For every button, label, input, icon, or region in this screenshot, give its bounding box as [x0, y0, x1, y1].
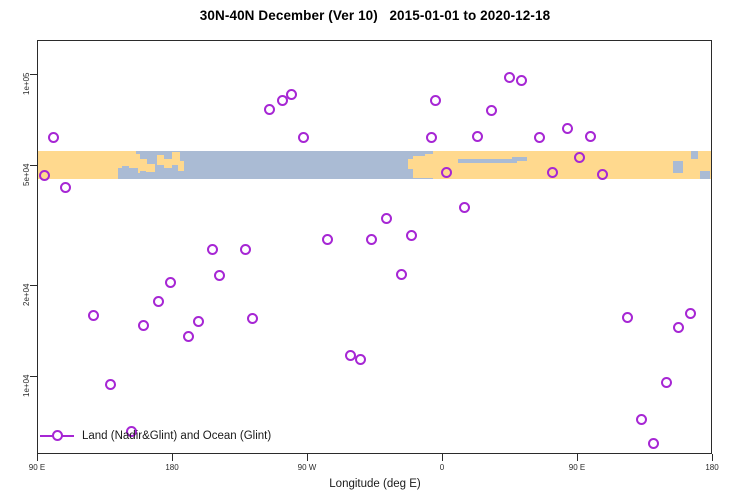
scatter-point — [426, 132, 437, 143]
y-tick-mark — [30, 376, 37, 377]
scatter-point — [366, 234, 377, 245]
legend-label: Land (Nadir&Glint) and Ocean (Glint) — [82, 430, 271, 442]
map-band-eastern-half — [376, 151, 713, 179]
y-tick-label: 1e+05 — [22, 73, 31, 95]
x-tick-label: 90 E — [569, 463, 585, 472]
y-tick-mark — [30, 285, 37, 286]
landmass-shape — [178, 161, 185, 171]
x-tick-label: 90 E — [29, 463, 45, 472]
scatter-point — [534, 132, 545, 143]
x-tick-label: 180 — [705, 463, 718, 472]
scatter-point — [673, 322, 684, 333]
scatter-point — [322, 234, 333, 245]
scatter-point — [648, 438, 659, 449]
scatter-point — [165, 277, 176, 288]
scatter-point — [247, 313, 258, 324]
scatter-point — [48, 132, 59, 143]
chart-legend[interactable]: Land (Nadir&Glint) and Ocean (Glint) — [40, 424, 271, 448]
scatter-point — [138, 320, 149, 331]
chart-title: 30N-40N December (Ver 10) 2015-01-01 to … — [0, 8, 750, 23]
legend-circle-icon — [52, 430, 63, 441]
y-tick-label: 2e+04 — [22, 284, 31, 306]
y-tick-mark — [30, 165, 37, 166]
figure-canvas: 30N-40N December (Ver 10) 2015-01-01 to … — [0, 0, 750, 500]
landmass-shape — [521, 151, 616, 159]
scatter-point — [183, 331, 194, 342]
scatter-point — [214, 270, 225, 281]
plot-area — [37, 40, 712, 454]
scatter-point — [105, 379, 116, 390]
ocean-shape — [133, 173, 147, 179]
x-tick-mark — [712, 454, 713, 461]
scatter-point — [585, 131, 596, 142]
scatter-point — [396, 269, 407, 280]
scatter-point — [430, 95, 441, 106]
scatter-point — [516, 75, 527, 86]
scatter-point — [345, 350, 356, 361]
scatter-point — [193, 316, 204, 327]
landmass-shape — [419, 157, 439, 171]
x-axis-title: Longitude (deg E) — [0, 478, 750, 490]
scatter-point — [459, 202, 470, 213]
scatter-point — [207, 244, 218, 255]
x-tick-mark — [577, 454, 578, 461]
scatter-point — [406, 230, 417, 241]
ocean-shape — [700, 171, 710, 179]
scatter-point — [622, 312, 633, 323]
legend-marker-icon — [40, 429, 74, 443]
x-tick-mark — [172, 454, 173, 461]
scatter-point — [504, 72, 515, 83]
ocean-shape — [691, 151, 698, 159]
scatter-point — [39, 170, 50, 181]
scatter-point — [355, 354, 366, 365]
ocean-shape — [512, 157, 527, 161]
scatter-point — [574, 152, 585, 163]
scatter-point — [636, 414, 647, 425]
scatter-point — [88, 310, 99, 321]
x-tick-label: 180 — [165, 463, 178, 472]
scatter-point — [286, 89, 297, 100]
landmass-shape — [146, 164, 155, 172]
scatter-point — [264, 104, 275, 115]
scatter-point — [298, 132, 309, 143]
scatter-point — [441, 167, 452, 178]
landmass-shape — [164, 159, 172, 167]
y-tick-mark — [30, 74, 37, 75]
scatter-point — [685, 308, 696, 319]
scatter-point — [486, 105, 497, 116]
x-tick-label: 0 — [440, 463, 444, 472]
scatter-point — [661, 377, 672, 388]
y-tick-label: 5e+04 — [22, 164, 31, 186]
x-tick-mark — [307, 454, 308, 461]
scatter-point — [562, 123, 573, 134]
scatter-point — [240, 244, 251, 255]
landmass-shape — [408, 159, 422, 169]
scatter-point — [60, 182, 71, 193]
landmass-shape — [157, 155, 164, 165]
scatter-point — [153, 296, 164, 307]
scatter-point — [597, 169, 608, 180]
y-tick-label: 1e+04 — [22, 374, 31, 396]
x-tick-label: 90 W — [298, 463, 317, 472]
ocean-shape — [673, 161, 683, 174]
world-map-band — [38, 151, 712, 179]
scatter-point — [472, 131, 483, 142]
x-tick-mark — [37, 454, 38, 461]
landmass-shape — [38, 151, 122, 179]
scatter-point — [381, 213, 392, 224]
x-tick-mark — [442, 454, 443, 461]
